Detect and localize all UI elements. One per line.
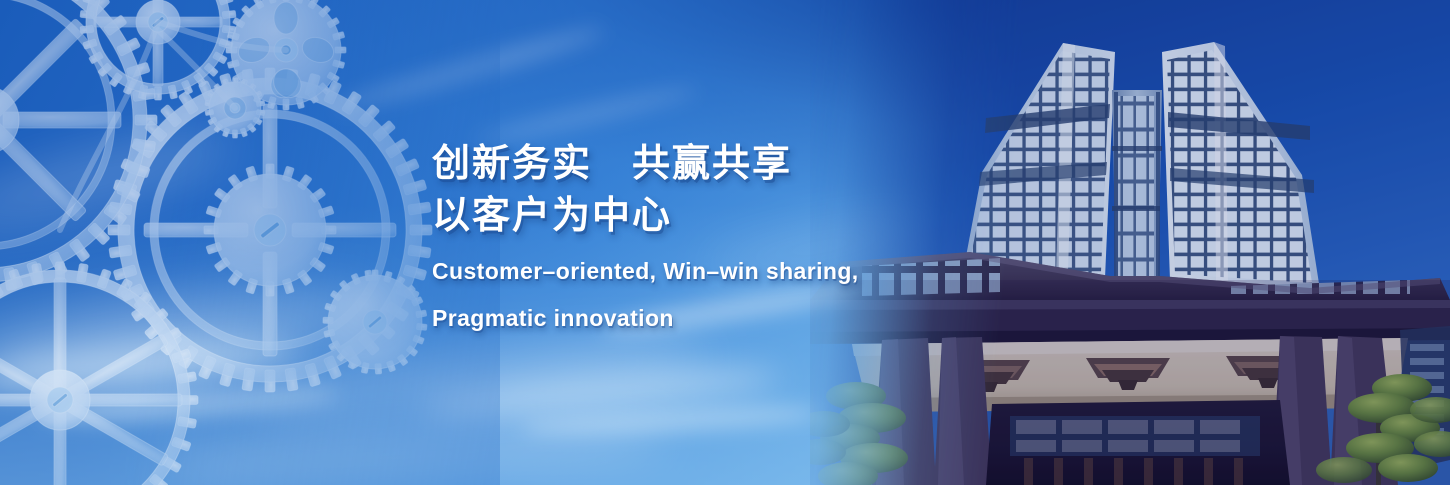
headline-line-1: 创新务实 共赢共享	[432, 138, 992, 190]
gear-cluster-icon	[0, 0, 500, 485]
hero-banner: 创新务实 共赢共享 以客户为中心 Customer–oriented, Win–…	[0, 0, 1450, 485]
subtitle-line-1: Customer–oriented, Win–win sharing,	[432, 254, 992, 289]
subtitle-line-2: Pragmatic innovation	[432, 301, 992, 336]
headline-line-2: 以客户为中心	[432, 190, 992, 242]
banner-copy: 创新务实 共赢共享 以客户为中心 Customer–oriented, Win–…	[432, 138, 992, 336]
